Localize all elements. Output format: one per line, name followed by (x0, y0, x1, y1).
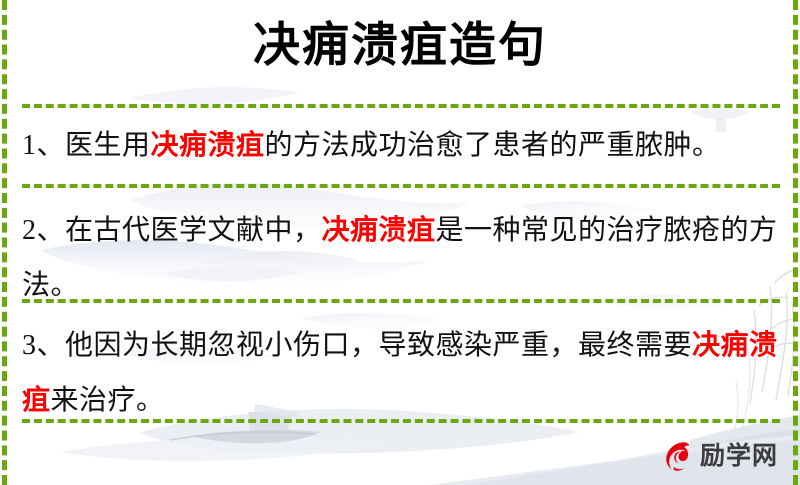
divider-below-sentence-2 (22, 299, 780, 303)
sentence-1-index: 1、 (22, 130, 65, 161)
sentence-3-part-3: 来治疗。 (51, 385, 165, 416)
divider-below-sentence-1 (22, 184, 780, 188)
sentence-1-keyword: 决痈溃疽 (151, 130, 265, 161)
site-logo[interactable]: 励学网 (661, 439, 778, 473)
site-logo-text: 励学网 (700, 444, 778, 469)
sentence-1-part-3: 的方法成功治愈了患者的严重脓肿。 (265, 130, 721, 161)
page-title: 决痈溃疽造句 (0, 14, 800, 78)
divider-below-title (22, 104, 780, 108)
sentence-item-2: 2、在古代医学文献中，决痈溃疽是一种常见的治疗脓疮的方法。 (22, 203, 778, 313)
sentence-2-index: 2、 (22, 215, 65, 246)
sentence-2-part-1: 在古代医学文献中， (65, 215, 322, 246)
worksheet-page: 决痈溃疽造句 1、医生用决痈溃疽的方法成功治愈了患者的严重脓肿。 2、在古代医学… (0, 0, 800, 485)
sentence-item-1: 1、医生用决痈溃疽的方法成功治愈了患者的严重脓肿。 (22, 118, 778, 173)
sentence-item-3: 3、他因为长期忽视小伤口，导致感染严重，最终需要决痈溃疽来治疗。 (22, 318, 778, 428)
divider-below-sentence-3 (22, 419, 780, 423)
sentence-3-index: 3、 (22, 330, 65, 361)
swirl-flame-icon (661, 439, 695, 473)
sentence-1-part-1: 医生用 (65, 130, 151, 161)
sentence-2-keyword: 决痈溃疽 (322, 215, 436, 246)
sentence-3-part-1: 他因为长期忽视小伤口，导致感染严重，最终需要 (65, 330, 692, 361)
